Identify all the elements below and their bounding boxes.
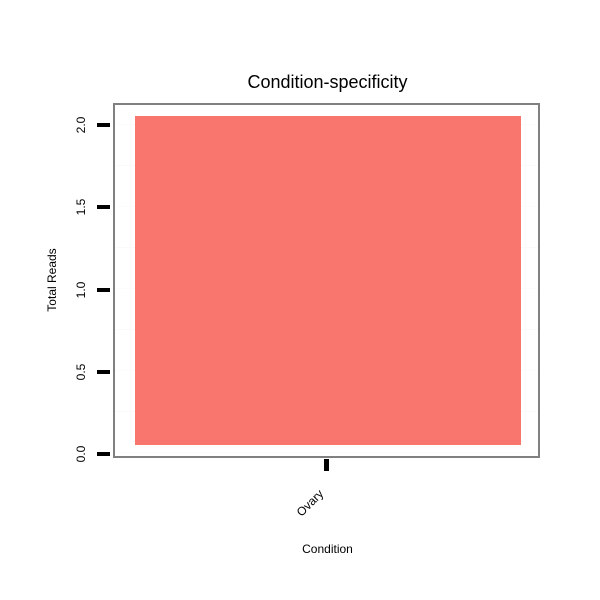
y-tick-mark-2-0 [97, 123, 110, 127]
chart-canvas: Condition-specificity 2.0 1.5 1.0 0.5 0.… [0, 0, 600, 600]
x-tick-label-ovary: Ovary [294, 487, 325, 518]
bar-ovary[interactable] [135, 116, 521, 445]
y-tick-mark-1-5 [97, 205, 110, 209]
y-axis-title: Total Reads [46, 248, 58, 311]
y-tick-mark-0-5 [97, 370, 110, 374]
chart-title: Condition-specificity [0, 71, 600, 93]
y-tick-mark-1-0 [97, 288, 110, 292]
plot-panel [113, 103, 540, 458]
y-tick-mark-0-0 [97, 452, 110, 456]
x-tick-mark-ovary [324, 459, 329, 471]
x-axis-title: Condition [0, 542, 600, 556]
gridline-major-0-0 [115, 452, 538, 453]
